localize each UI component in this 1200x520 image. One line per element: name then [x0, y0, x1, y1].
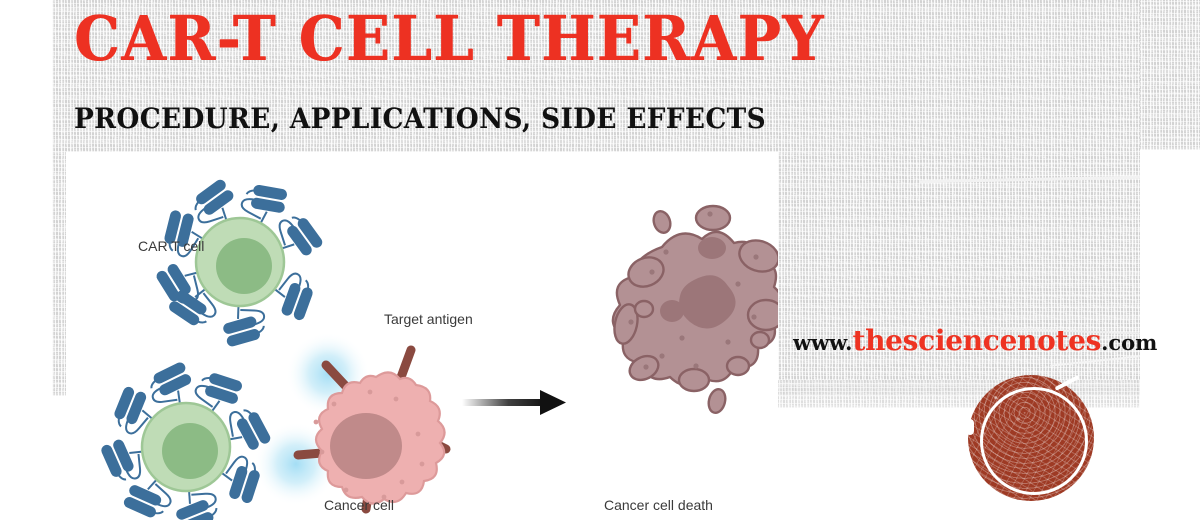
car-t-cell-lower [99, 360, 274, 520]
car-t-therapy-diagram: CAR T cell Target antigen Cancer cell Ca… [66, 152, 778, 520]
brand-stamp-icon [968, 375, 1094, 501]
label-car-t-cell: CAR T cell [138, 238, 204, 254]
poster-canvas: CAR-T CELL THERAPY PROCEDURE, APPLICATIO… [0, 0, 1200, 520]
page-title: CAR-T CELL THERAPY [74, 8, 825, 70]
brand-url[interactable]: www.thesciencenotes.com [793, 327, 1157, 355]
brand-suffix: .com [1101, 330, 1157, 355]
dying-cancer-cell [611, 206, 778, 415]
page-subtitle: PROCEDURE, APPLICATIONS, SIDE EFFECTS [74, 105, 766, 133]
brand-name: thesciencenotes [852, 324, 1101, 357]
label-target-antigen: Target antigen [384, 311, 473, 327]
stamp-inner-ring [980, 387, 1088, 495]
stamp-nick-icon [966, 419, 974, 435]
label-cancer-cell: Cancer cell [324, 497, 394, 513]
label-cancer-cell-death: Cancer cell death [604, 497, 713, 513]
t-cell-nucleus [216, 238, 272, 294]
illustration-panel: CAR T cell Target antigen Cancer cell Ca… [66, 152, 778, 520]
t-cell-nucleus [162, 423, 218, 479]
cancer-cell-nucleus [330, 413, 402, 479]
car-t-cell-upper [153, 174, 327, 349]
process-arrow-icon [462, 390, 566, 415]
brand-prefix: www. [793, 330, 852, 355]
